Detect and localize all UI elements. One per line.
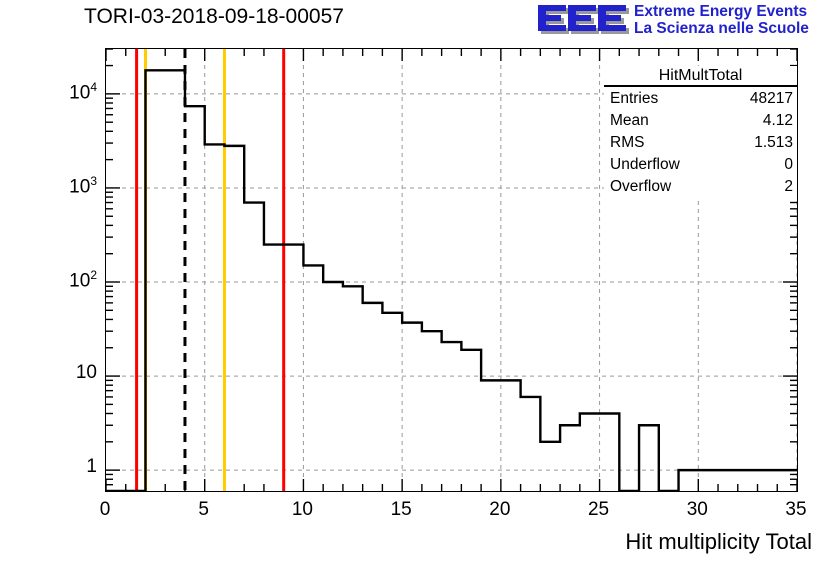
root-canvas: TORI-03-2018-09-18-00057 xyxy=(0,0,836,572)
x-tick-label: 5 xyxy=(174,499,234,521)
y-tick-label: 104 xyxy=(69,80,97,104)
x-tick-label: 10 xyxy=(272,499,332,521)
stats-row-entries: Entries48217 xyxy=(610,88,793,110)
x-tick-label: 20 xyxy=(470,499,530,521)
x-tick-label: 25 xyxy=(569,499,629,521)
y-tick-label: 103 xyxy=(69,174,97,198)
stats-row-mean: Mean4.12 xyxy=(610,110,793,132)
eee-logo-line2: La Scienza nelle Scuole xyxy=(634,20,809,37)
stats-row-label: RMS xyxy=(610,132,644,154)
y-tick-label: 102 xyxy=(69,268,97,292)
stats-row-value: 0 xyxy=(784,154,793,176)
stats-row-value: 48217 xyxy=(750,88,793,110)
eee-logo-mark xyxy=(536,4,630,38)
stats-row-value: 1.513 xyxy=(754,132,793,154)
eee-logo-icon xyxy=(536,4,630,38)
eee-logo-line1: Extreme Energy Events xyxy=(634,3,809,20)
marker-lines xyxy=(137,49,284,491)
stats-row-label: Entries xyxy=(610,88,658,110)
stats-box-title: HitMultTotal xyxy=(604,66,797,87)
y-tick-label: 10 xyxy=(76,362,97,384)
x-tick-label: 30 xyxy=(667,499,727,521)
stats-row-value: 2 xyxy=(784,176,793,198)
eee-logo: Extreme Energy Events La Scienza nelle S… xyxy=(536,2,836,42)
x-axis-title: Hit multiplicity Total xyxy=(625,529,812,555)
stats-row-overflow: Overflow2 xyxy=(610,176,793,198)
stats-row-underflow: Underflow0 xyxy=(610,154,793,176)
stats-row-value: 4.12 xyxy=(763,110,793,132)
stats-row-rms: RMS1.513 xyxy=(610,132,793,154)
x-tick-label: 0 xyxy=(75,499,135,521)
stats-row-label: Mean xyxy=(610,110,649,132)
x-tick-label: 35 xyxy=(766,499,826,521)
y-tick-label: 1 xyxy=(86,456,97,478)
stats-row-label: Overflow xyxy=(610,176,671,198)
stats-box: HitMultTotal Entries48217Mean4.12RMS1.51… xyxy=(604,66,797,201)
eee-logo-text: Extreme Energy Events La Scienza nelle S… xyxy=(634,3,809,37)
x-tick-label: 15 xyxy=(371,499,431,521)
page-title: TORI-03-2018-09-18-00057 xyxy=(84,5,344,29)
stats-row-label: Underflow xyxy=(610,154,680,176)
